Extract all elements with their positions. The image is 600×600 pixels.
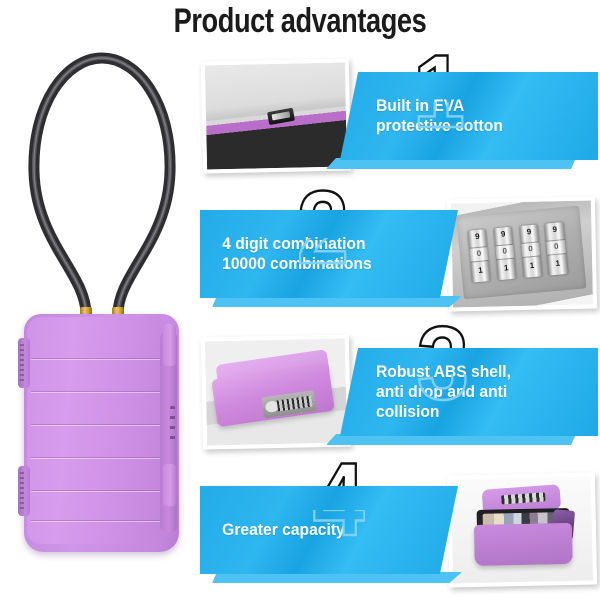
cable-svg [22,42,182,317]
photo-eva-cotton-closeup [205,63,347,170]
case-rib [31,424,163,425]
feature-text: Greater capacity [222,520,345,540]
case-rib [31,520,163,521]
case-dial-marks [170,406,175,444]
feature-row: 2 9 0 1 9 0 1 [198,184,600,322]
feature-photo [447,472,597,587]
dial-wheel: 9 0 1 [545,222,568,275]
photo-combination-dials: 9 0 1 9 0 1 9 0 1 [451,201,593,308]
case-outer-shell [474,523,573,567]
case-rib [31,358,163,359]
feature-banner: 4 digit combination 10000 combinations [200,210,458,298]
case-hinge-tab [163,324,176,366]
steel-cable-loop [22,42,182,317]
feature-photo: 9 0 1 9 0 1 9 0 1 [447,196,597,311]
case-rib [31,391,163,392]
feature-banner: Greater capacity [200,486,458,574]
dial-wheel: 9 0 1 [468,229,491,282]
feature-row: 1 Built in EVA protective cotton 1 [198,46,600,184]
case-latch [18,466,30,516]
feature-text: Robust ABS shell, anti drop and anti col… [376,362,511,422]
hero-product-image [8,42,203,590]
dial-wheel: 9 0 1 [494,227,517,280]
feature-text: 4 digit combination 10000 combinations [222,234,372,274]
lock-case-body [24,314,179,552]
dial-wheel: 9 0 1 [520,225,543,278]
photo-open-case-contents [451,477,593,584]
feature-photo [201,334,351,449]
feature-text: Built in EVA protective cotton [376,96,503,136]
photo-abs-shell-case [205,339,347,446]
feature-row: 3 Robust ABS shell, anti drop and anti c… [198,322,600,460]
case-latch [18,338,30,388]
page-title: Product advantages [60,2,540,41]
feature-photo [201,58,351,173]
feature-banner: Built in EVA protective cotton [340,72,598,160]
feature-banner: Robust ABS shell, anti drop and anti col… [340,348,598,436]
metal-clip-detail [267,107,295,124]
feature-row: 4 Greater capacity 4 [198,460,600,598]
dial-plate: 9 0 1 9 0 1 9 0 1 [457,206,587,300]
case-hinge-tab [163,464,176,506]
case-rib [31,457,163,458]
case-rib [31,490,163,491]
features-list: 1 Built in EVA protective cotton 1 2 9 [198,46,600,598]
